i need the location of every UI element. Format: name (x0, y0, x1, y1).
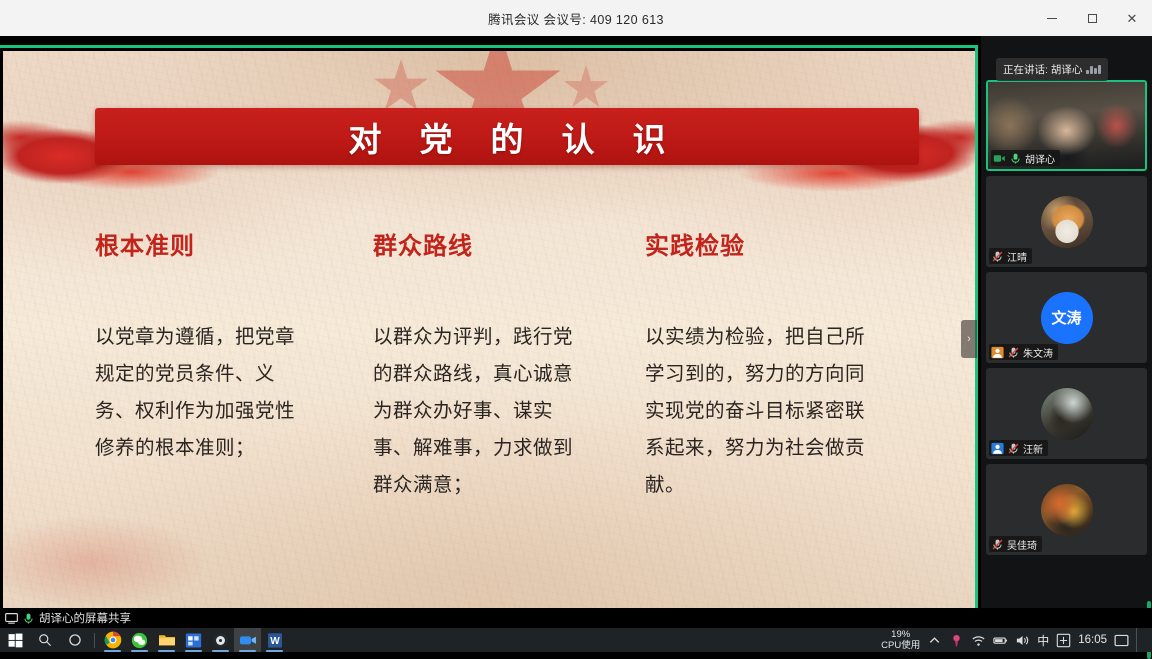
participant-badge: 吴佳琦 (989, 536, 1042, 552)
slide-title: 对党的认识 (311, 113, 704, 161)
slide-title-banner: 对党的认识 (95, 108, 919, 165)
column-body: 以实绩为检验，把自己所学习到的，努力的方向同实现党的奋斗目标紧密联系起来，努力为… (645, 319, 869, 504)
participant-name: 江晴 (1007, 249, 1027, 264)
taskbar-clock[interactable]: 16:05 (1078, 634, 1107, 646)
avatar: 文涛 (1041, 292, 1093, 344)
column-body: 以群众为评判，践行党的群众路线，真心诚意为群众办好事、谋实事、解难事，力求做到群… (373, 319, 591, 504)
cortana-icon (68, 633, 82, 647)
camera-icon (993, 152, 1006, 165)
taskbar-app-tencent-meeting[interactable] (234, 628, 261, 652)
microphone-muted-icon (991, 538, 1004, 551)
wifi-icon[interactable] (971, 633, 986, 648)
volume-icon[interactable] (1015, 633, 1030, 648)
cpu-percent: 19% (881, 629, 920, 640)
word-icon: W (267, 632, 283, 649)
collapse-panel-button[interactable]: › (961, 320, 977, 358)
participant-name: 汪新 (1023, 441, 1043, 456)
windows-taskbar: W 19% CPU使用 中 (0, 628, 1152, 652)
taskbar-app-word[interactable]: W (261, 628, 288, 652)
folder-icon (158, 632, 176, 648)
slide-column: 群众路线 以群众为评判，践行党的群众路线，真心诚意为群众办好事、谋实事、解难事，… (361, 226, 623, 586)
tray-app-icon[interactable] (949, 633, 964, 648)
ime-indicator[interactable]: 中 (1037, 632, 1049, 649)
wechat-icon (131, 632, 148, 649)
participant-tile[interactable]: 汪新 (986, 368, 1147, 459)
screen-share-icon (5, 612, 18, 625)
slide-column: 实践检验 以实绩为检验，把自己所学习到的，努力的方向同实现党的奋斗目标紧密联系起… (627, 226, 889, 586)
close-button[interactable]: ✕ (1112, 0, 1152, 36)
search-button[interactable] (30, 628, 60, 652)
participant-tile[interactable]: 文涛 朱文涛 (986, 272, 1147, 363)
star-decoration-small2-icon (563, 65, 609, 111)
taskbar-app-media[interactable] (207, 628, 234, 652)
window-controls: ✕ (1032, 0, 1152, 36)
microphone-icon (22, 612, 35, 625)
participant-name: 吴佳琦 (1007, 537, 1037, 552)
cpu-usage-indicator[interactable]: 19% CPU使用 (881, 629, 920, 651)
active-speaker-indicator: 正在讲话: 胡译心 (996, 58, 1108, 81)
avatar (1041, 388, 1093, 440)
slide-column: 根本准则 以党章为遵循，把党章规定的党员条件、义务、权利作为加强党性修养的根本准… (95, 226, 357, 586)
participant-badge: 朱文涛 (989, 344, 1058, 360)
avatar (1041, 484, 1093, 536)
participant-sidebar: 正在讲话: 胡译心 胡译心 (981, 36, 1152, 616)
screen-share-statusbar: 胡译心的屏幕共享 (0, 608, 1152, 628)
maximize-button[interactable] (1072, 0, 1112, 36)
participant-badge: 汪新 (989, 440, 1048, 456)
participant-name: 胡译心 (1025, 151, 1055, 166)
minimize-button[interactable] (1032, 0, 1072, 36)
star-decoration-small-icon (373, 59, 429, 115)
participant-tile[interactable]: 江晴 (986, 176, 1147, 267)
meeting-stage: 对党的认识 根本准则 以党章为遵循，把党章规定的党员条件、义务、权利作为加强党性… (0, 36, 1152, 616)
ime-settings-icon[interactable] (1056, 633, 1071, 648)
participant-badge: 胡译心 (991, 150, 1060, 166)
minimize-icon (1047, 18, 1057, 19)
window-titlebar: 腾讯会议 会议号: 409 120 613 ✕ (0, 0, 1152, 36)
battery-icon[interactable] (993, 633, 1008, 648)
column-heading: 根本准则 (95, 226, 357, 261)
taskbar-left: W (0, 628, 288, 652)
participant-badge: 江晴 (989, 248, 1032, 264)
chrome-icon (104, 631, 122, 649)
slide-columns: 根本准则 以党章为遵循，把党章规定的党员条件、义务、权利作为加强党性修养的根本准… (3, 226, 975, 586)
presentation-slide: 对党的认识 根本准则 以党章为遵循，把党章规定的党员条件、义务、权利作为加强党性… (3, 51, 975, 612)
avatar-initials: 文涛 (1051, 307, 1081, 328)
chevron-right-icon: › (967, 333, 971, 345)
participant-tile[interactable]: 胡译心 (986, 80, 1147, 171)
svg-text:W: W (270, 636, 280, 647)
cpu-label: CPU使用 (881, 640, 920, 651)
camera-off-icon (991, 442, 1004, 455)
participant-name: 朱文涛 (1023, 345, 1053, 360)
taskbar-divider (94, 633, 95, 648)
microphone-icon (1009, 152, 1022, 165)
window-title: 腾讯会议 会议号: 409 120 613 (0, 9, 1152, 28)
search-icon (38, 633, 52, 647)
action-center-icon[interactable] (1114, 633, 1129, 648)
participant-tile[interactable]: 吴佳琦 (986, 464, 1147, 555)
show-desktop-button[interactable] (1136, 628, 1146, 652)
taskbar-app-wechat[interactable] (126, 628, 153, 652)
taskbar-app-store[interactable] (180, 628, 207, 652)
store-icon (185, 632, 202, 649)
audio-level-icon (1086, 65, 1101, 74)
microphone-muted-icon (991, 250, 1004, 263)
maximize-icon (1088, 14, 1097, 23)
media-player-icon (212, 632, 229, 649)
active-speaker-label: 正在讲话: 胡译心 (1003, 62, 1082, 77)
taskbar-tray: 19% CPU使用 中 16:05 (881, 628, 1152, 652)
cortana-button[interactable] (60, 628, 90, 652)
close-icon: ✕ (1127, 12, 1138, 25)
tray-expand-chevron-icon[interactable] (927, 633, 942, 648)
taskbar-app-file-explorer[interactable] (153, 628, 180, 652)
shared-screen-frame: 对党的认识 根本准则 以党章为遵循，把党章规定的党员条件、义务、权利作为加强党性… (0, 45, 978, 612)
microphone-muted-icon (1007, 346, 1020, 359)
column-body: 以党章为遵循，把党章规定的党员条件、义务、权利作为加强党性修养的根本准则； (95, 319, 313, 467)
taskbar-app-chrome[interactable] (99, 628, 126, 652)
microphone-muted-icon (1007, 442, 1020, 455)
avatar (1041, 196, 1093, 248)
tencent-meeting-icon (239, 632, 257, 648)
start-button[interactable] (0, 628, 30, 652)
windows-logo-icon (8, 633, 23, 648)
camera-off-icon (991, 346, 1004, 359)
share-status-text: 胡译心的屏幕共享 (39, 610, 131, 626)
column-heading: 群众路线 (373, 226, 623, 261)
column-heading: 实践检验 (645, 226, 889, 261)
